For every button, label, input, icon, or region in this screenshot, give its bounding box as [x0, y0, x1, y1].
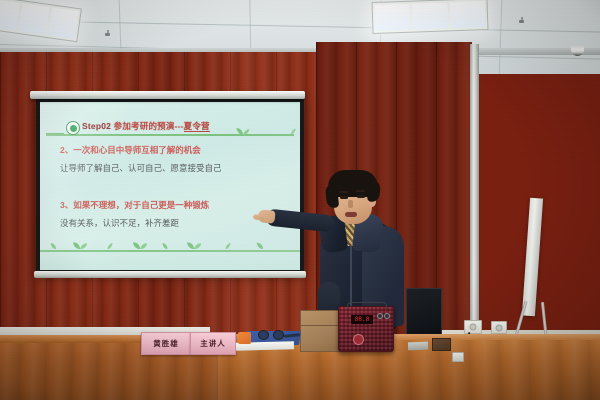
nameplate-name-text: 黄胜雄: [153, 338, 179, 349]
slide-step-label: Step02: [82, 121, 111, 131]
slide-header-text: 参加考研的预演---: [114, 121, 184, 131]
leaf-icon-footer-5: [162, 241, 173, 250]
speaker-hair-side: [325, 183, 339, 208]
speaker-brow-right: [356, 190, 365, 192]
leaf-icon-header-2: [286, 127, 296, 135]
slide-line-2: 让导师了解自己、认可自己、愿意接受自己: [60, 164, 222, 173]
eyeglasses: [258, 330, 284, 339]
slide-line-3: 3、如果不理想，对于自己更是一种锻炼: [60, 201, 209, 210]
nameplate-speaker-name: 黄胜雄: [141, 332, 191, 355]
wallet: [432, 338, 451, 351]
lecture-room-scene: Step02 参加考研的预演---夏令营 2、一次和心目中导师互相了解的机会 让…: [0, 0, 600, 400]
wall-socket-right: [491, 321, 507, 334]
mobile-phone: [408, 342, 428, 351]
pa-display-text: 88.8: [355, 316, 369, 323]
leaf-icon-footer-1: [50, 241, 62, 250]
pa-knob-1[interactable]: [377, 313, 383, 319]
speaker-handle: [347, 302, 387, 309]
pa-knob-2[interactable]: [384, 313, 390, 319]
leaf-icon-header: [236, 127, 250, 136]
nameplate-role: 主讲人: [190, 332, 236, 355]
speaker-hair-side-right: [367, 179, 381, 202]
pa-speaker-display: 88.8: [351, 315, 373, 324]
slide-header-title: Step02 参加考研的预演---夏令营: [82, 120, 210, 132]
leaf-icon-footer-3: [102, 241, 113, 250]
power-adapter: [452, 352, 464, 362]
speaker-eye-right: [357, 195, 365, 198]
projector-screen-roller-casing: [30, 91, 305, 99]
speaker-pointing-arm: [265, 208, 334, 232]
slide-header: Step02 参加考研的预演---夏令营: [40, 119, 300, 137]
desktop-monitor: [406, 288, 442, 336]
slide-header-tail: 夏令营: [184, 121, 210, 132]
slide-line-4: 没有关系，认识不足，补齐差距: [60, 219, 179, 228]
speaker-nose: [348, 200, 353, 208]
leaf-icon-footer-6: [186, 240, 202, 250]
sprinkler-head-left: [105, 30, 110, 36]
slide-line-1: 2、一次和心目中导师互相了解的机会: [60, 146, 201, 155]
speaker-eye-left: [340, 196, 348, 199]
leaf-icon-footer-7: [220, 241, 231, 250]
leaf-icon-footer-4: [132, 240, 148, 250]
green-circle-badge-icon: [66, 121, 80, 135]
ceiling-light-panel-right: [371, 0, 488, 34]
nameplate-role-text: 主讲人: [200, 338, 226, 349]
speaker-mouth: [345, 212, 357, 217]
wall-divider-strip: [470, 44, 479, 360]
pa-speaker-logo-icon: [353, 334, 364, 345]
speaker-brow-left: [339, 191, 348, 193]
ceiling-light-panel-left: [0, 0, 82, 42]
portable-pa-speaker: 88.8: [338, 306, 394, 352]
orange-object: [238, 332, 251, 344]
leaf-icon-footer-2: [72, 240, 88, 250]
sprinkler-head-right: [519, 17, 524, 23]
wall-socket-left: [464, 320, 482, 334]
